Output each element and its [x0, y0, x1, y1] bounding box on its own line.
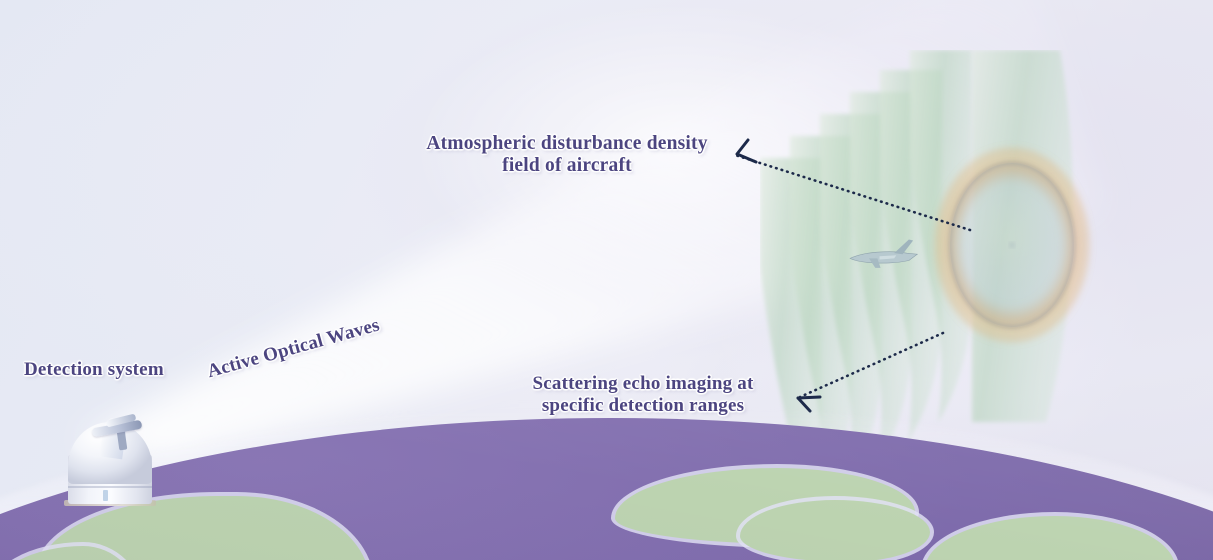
observatory-band-lower — [68, 486, 152, 488]
landmass-right — [925, 516, 1175, 560]
label-atmospheric-disturbance-density-field: Atmospheric disturbance density field of… — [422, 133, 712, 178]
label-active-optical-waves: Active Optical Waves — [205, 309, 404, 383]
observatory-dome-icon — [62, 414, 158, 506]
label-detection-system: Detection system — [24, 359, 184, 381]
disturbance-ring — [934, 147, 1090, 343]
observatory-window-3 — [103, 490, 108, 501]
landmass-left-lobe — [0, 546, 140, 560]
landmass-center-tail — [740, 500, 930, 560]
density-field-planes — [760, 50, 1180, 470]
ring-center-dot — [1009, 242, 1015, 248]
landmass-center — [615, 468, 915, 544]
label-scattering-echo-imaging: Scattering echo imaging at specific dete… — [512, 373, 774, 417]
arrow-top-head — [737, 140, 756, 162]
diagram-canvas: Atmospheric disturbance density field of… — [0, 0, 1213, 560]
